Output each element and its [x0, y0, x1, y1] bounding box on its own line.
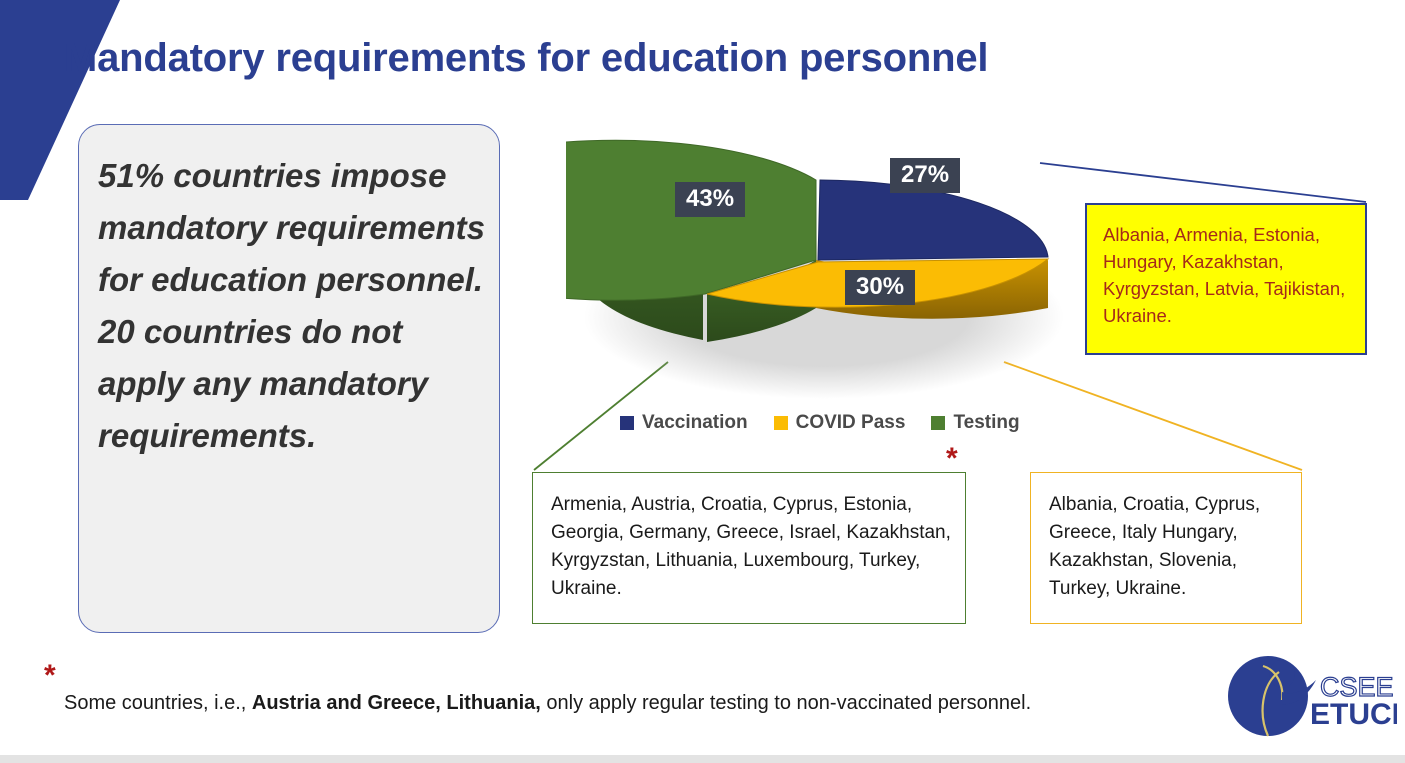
pie-label-covid-pass: 30% — [845, 270, 915, 305]
asterisk-marker-chart: * — [946, 444, 958, 474]
csee-etuce-logo: CSEE ETUCE — [1222, 648, 1397, 744]
chart-legend: Vaccination COVID Pass Testing — [620, 412, 1020, 434]
legend-label: Vaccination — [642, 412, 748, 434]
legend-item-vaccination: Vaccination — [620, 412, 748, 434]
footnote: Some countries, i.e., Austria and Greece… — [64, 692, 1031, 715]
logo-text-etuce: ETUCE — [1310, 698, 1397, 731]
callout-covid-pass-countries: Albania, Croatia, Cyprus, Greece, Italy … — [1030, 472, 1302, 624]
pie-label-testing: 43% — [675, 182, 745, 217]
legend-swatch-icon — [931, 416, 945, 430]
logo-head-icon — [1269, 660, 1295, 688]
pie-label-vaccination: 27% — [890, 158, 960, 193]
statement-text: 51% countries impose mandatory requireme… — [98, 150, 488, 462]
leader-line-vaccination — [1040, 163, 1366, 202]
footnote-lead: Some countries, i.e., — [64, 692, 252, 714]
legend-swatch-icon — [620, 416, 634, 430]
slide-canvas: Mandatory requirements for education per… — [0, 0, 1405, 763]
footnote-tail: only apply regular testing to non-vaccin… — [541, 692, 1031, 714]
asterisk-marker-footnote: * — [44, 661, 56, 691]
page-title: Mandatory requirements for education per… — [64, 36, 1214, 81]
legend-item-testing: Testing — [931, 412, 1019, 434]
pie-chart — [566, 112, 1066, 402]
footnote-bold: Austria and Greece, Lithuania, — [252, 692, 541, 714]
legend-label: Testing — [953, 412, 1019, 434]
callout-testing-countries: Armenia, Austria, Croatia, Cyprus, Eston… — [532, 472, 966, 624]
callout-vaccination-countries: Albania, Armenia, Estonia, Hungary, Kaza… — [1085, 203, 1367, 355]
legend-label: COVID Pass — [796, 412, 906, 434]
legend-item-covid-pass: COVID Pass — [774, 412, 906, 434]
legend-swatch-icon — [774, 416, 788, 430]
bottom-strip — [0, 755, 1405, 763]
